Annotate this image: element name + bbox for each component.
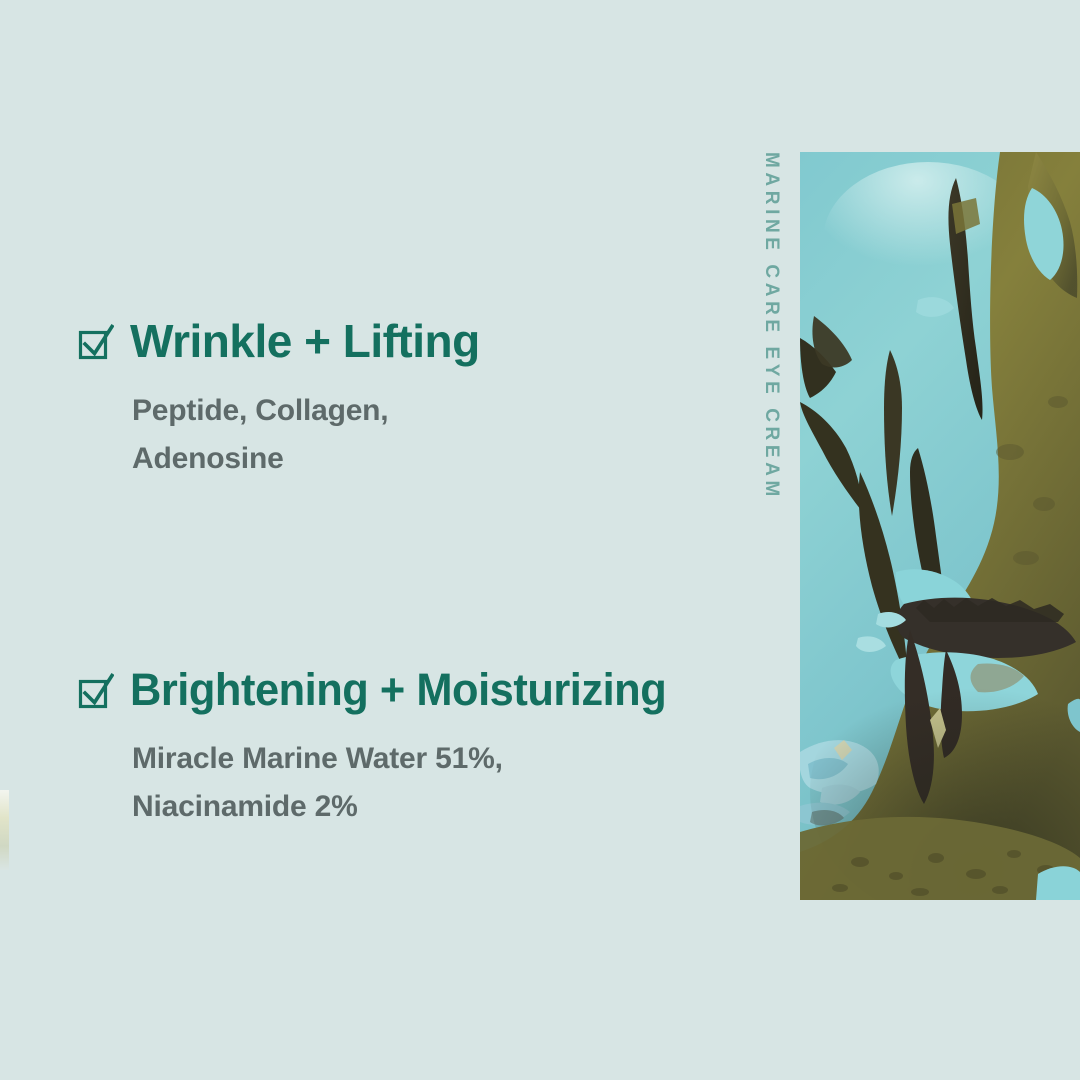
product-vertical-label: MARINE CARE EYE CREAM bbox=[751, 152, 791, 512]
benefit-item-wrinkle-lifting: Wrinkle + Lifting Peptide, Collagen,Aden… bbox=[78, 318, 768, 483]
benefit-heading-row: Brightening + Moisturizing bbox=[78, 667, 768, 713]
kelp-photo-artwork bbox=[800, 152, 1080, 900]
underwater-seaweed-kelp-photo bbox=[800, 152, 1080, 900]
benefit-heading-row: Wrinkle + Lifting bbox=[78, 318, 768, 365]
benefit-item-brightening-moisturizing: Brightening + Moisturizing Miracle Marin… bbox=[78, 667, 768, 831]
adjacent-frame-sliver bbox=[0, 790, 9, 870]
benefit-description: Peptide, Collagen,Adenosine bbox=[132, 387, 768, 483]
checkbox-checked-icon bbox=[78, 323, 114, 363]
benefit-title: Wrinkle + Lifting bbox=[130, 318, 480, 365]
checkbox-checked-icon bbox=[78, 672, 114, 712]
product-vertical-label-text: MARINE CARE EYE CREAM bbox=[760, 152, 782, 501]
benefits-list: Wrinkle + Lifting Peptide, Collagen,Aden… bbox=[78, 318, 768, 831]
benefit-description: Miracle Marine Water 51%,Niacinamide 2% bbox=[132, 735, 768, 831]
benefit-title: Brightening + Moisturizing bbox=[130, 667, 666, 713]
promo-canvas: Wrinkle + Lifting Peptide, Collagen,Aden… bbox=[0, 0, 1080, 1080]
